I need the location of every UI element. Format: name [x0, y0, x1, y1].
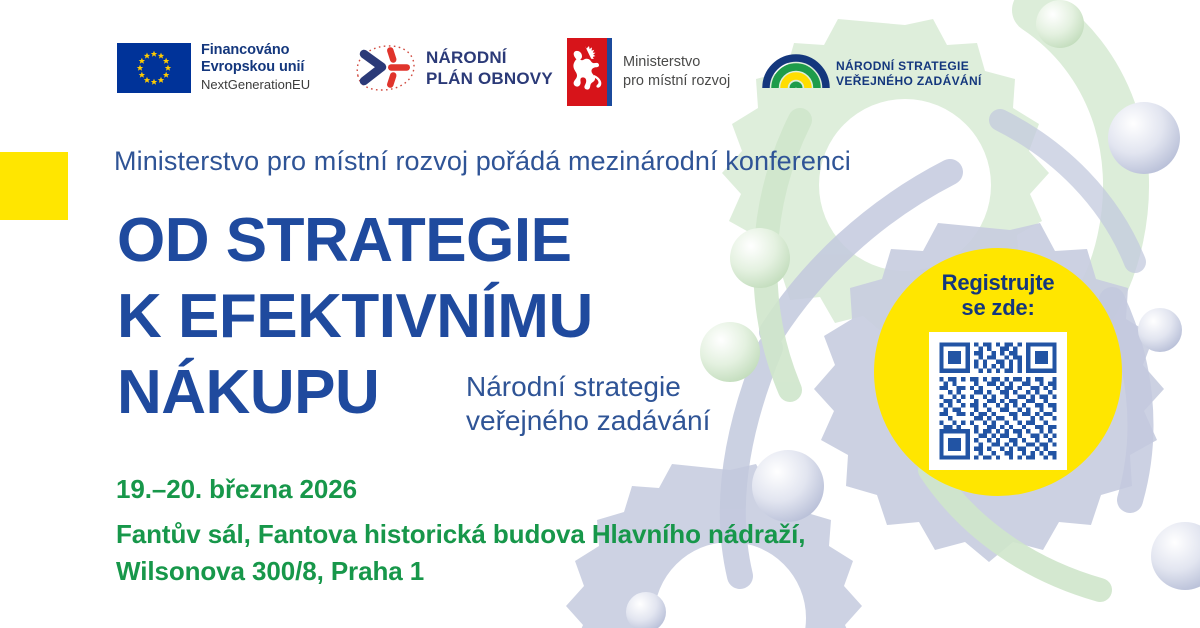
registration-title: Registrujte se zde:	[942, 270, 1055, 320]
conference-banner: Financováno Evropskou unií NextGeneratio…	[0, 0, 1200, 628]
czech-lion-icon	[567, 38, 613, 106]
subtitle: Národní strategie veřejného zadávání	[466, 370, 710, 438]
registration-badge[interactable]: Registrujte se zde:	[874, 248, 1122, 496]
npo-logo-line1: NÁRODNÍ	[426, 47, 553, 68]
eu-logo-line3: NextGenerationEU	[201, 77, 310, 93]
headline-line1: OD STRATEGIE	[117, 210, 571, 272]
nsvz-logo-line1: NÁRODNÍ STRATEGIE	[836, 59, 982, 74]
eu-logo-text: Financováno Evropskou unií NextGeneratio…	[201, 42, 310, 93]
registration-title-line1: Registrujte	[942, 270, 1055, 295]
yellow-square-accent	[0, 152, 68, 220]
narodni-plan-obnovy-icon	[352, 40, 418, 96]
nsvz-logo-line2: VEŘEJNÉHO ZADÁVÁNÍ	[836, 74, 982, 89]
logo-narodni-strategie-verejneho-zadavani: NÁRODNÍ STRATEGIE VEŘEJNÉHO ZADÁVÁNÍ	[762, 38, 982, 96]
subtitle-line1: Národní strategie	[466, 370, 710, 404]
registration-title-line2: se zde:	[942, 295, 1055, 320]
eu-logo-line2: Evropskou unií	[201, 59, 310, 76]
nsvz-logo-text: NÁRODNÍ STRATEGIE VEŘEJNÉHO ZADÁVÁNÍ	[836, 59, 982, 89]
logo-ministerstvo-pro-mistni-rozvoj: Ministerstvo pro místní rozvoj	[567, 38, 730, 106]
venue-hall: Fantův sál, Fantova historická budova Hl…	[116, 521, 805, 547]
mmr-logo-line2: pro místní rozvoj	[623, 72, 730, 91]
venue-address: Wilsonova 300/8, Praha 1	[116, 558, 424, 584]
logo-row: Financováno Evropskou unií NextGeneratio…	[0, 0, 1200, 120]
headline-line2: K EFEKTIVNÍMU	[117, 286, 593, 348]
venue-date: 19.–20. března 2026	[116, 476, 357, 502]
eu-logo-line1: Financováno	[201, 42, 310, 59]
mmr-logo-text: Ministerstvo pro místní rozvoj	[623, 53, 730, 91]
kicker-text: Ministerstvo pro místní rozvoj pořádá me…	[114, 146, 851, 177]
logo-narodni-plan-obnovy: NÁRODNÍ PLÁN OBNOVY	[352, 40, 553, 96]
headline-line3: NÁKUPU	[117, 362, 379, 424]
subtitle-line2: veřejného zadávání	[466, 404, 710, 438]
narodni-strategie-arcs-icon	[762, 38, 830, 96]
npo-logo-text: NÁRODNÍ PLÁN OBNOVY	[426, 47, 553, 89]
npo-logo-line2: PLÁN OBNOVY	[426, 68, 553, 89]
eu-flag-icon	[117, 43, 191, 93]
logo-european-union: Financováno Evropskou unií NextGeneratio…	[117, 42, 310, 93]
mmr-logo-line1: Ministerstvo	[623, 53, 730, 72]
qr-code-icon[interactable]	[929, 332, 1067, 470]
